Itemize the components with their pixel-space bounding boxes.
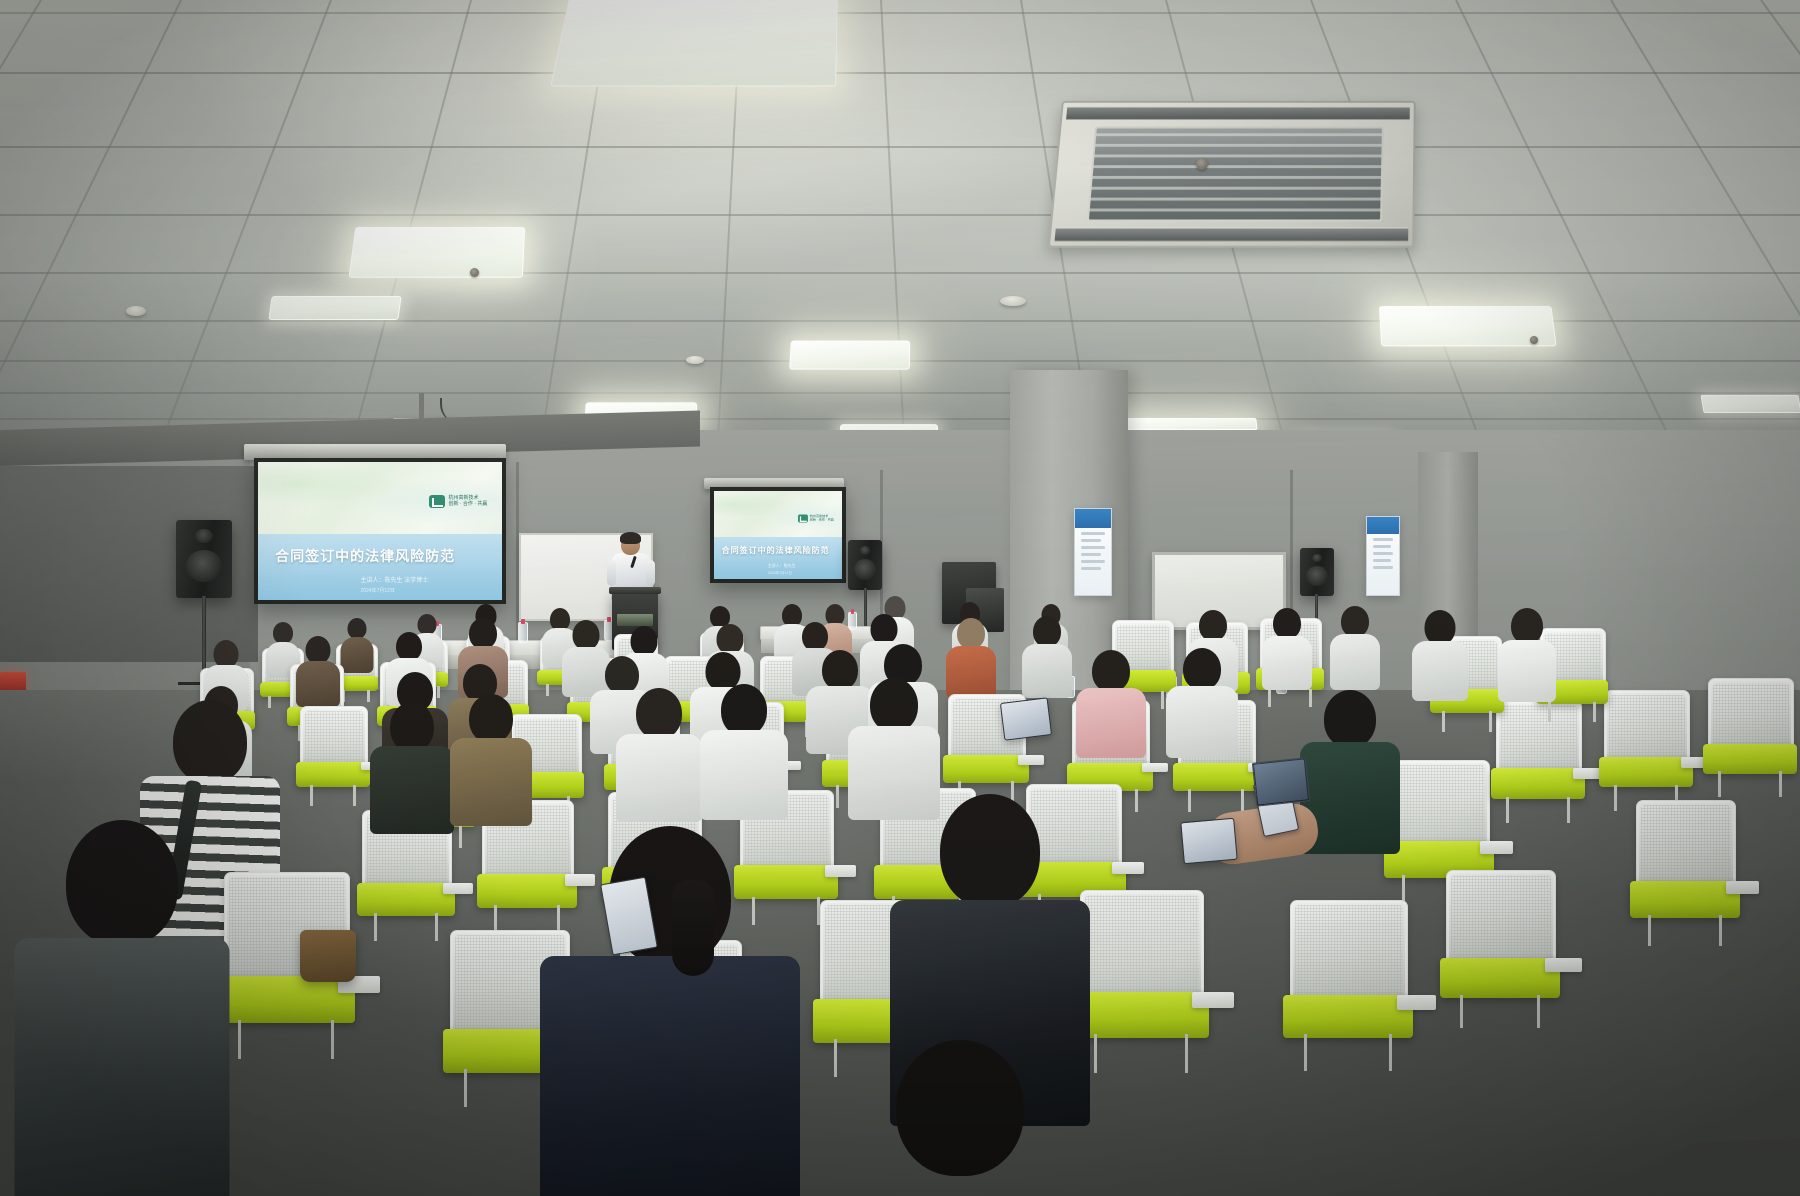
ceiling-ac-cassette	[1048, 101, 1416, 248]
chair[interactable]	[1080, 890, 1202, 1066]
smoke-detector	[1000, 296, 1026, 306]
audience-member	[946, 618, 996, 694]
ceiling-light-panel	[348, 227, 525, 278]
slide-title: 合同签订中的法律风险防范	[275, 546, 455, 566]
chair[interactable]	[1446, 870, 1554, 1022]
ponytail	[672, 880, 714, 976]
slide-date: 2024年7月12日	[360, 587, 394, 594]
secondary-projection-screen: 杭州高新技术 创新 · 合作 · 共赢 合同签订中的法律风险防范 主讲人：陈先生…	[710, 487, 846, 583]
slide-logo: 杭州高新技术 创新 · 合作 · 共赢	[429, 495, 487, 508]
chair[interactable]	[1290, 900, 1406, 1064]
slide-presenter: 主讲人：陈先生	[768, 563, 796, 569]
sprinkler-head	[1530, 336, 1538, 344]
audience-member	[616, 688, 702, 818]
audience-member	[1412, 610, 1468, 698]
handbag	[300, 930, 356, 982]
slide-logo-line2: 创新 · 合作 · 共赢	[810, 518, 834, 522]
ceiling-light-panel	[550, 0, 838, 86]
audience-member	[370, 702, 454, 832]
audience-member	[1166, 648, 1238, 754]
lectern-label	[617, 614, 653, 626]
sprinkler-head	[470, 268, 479, 277]
laptop[interactable]	[1252, 757, 1310, 806]
ceiling-light-panel	[1114, 418, 1257, 430]
chair[interactable]	[300, 706, 366, 802]
audience-member	[1076, 650, 1146, 754]
slide-presenter: 主讲人：陈先生 法学博士	[360, 575, 428, 584]
ceiling-light-panel	[268, 296, 401, 320]
water-bottle	[518, 622, 528, 643]
pa-speaker	[1300, 548, 1334, 596]
pa-speaker	[176, 520, 232, 598]
audience-member	[14, 820, 229, 1196]
exit-sign	[0, 672, 26, 692]
smoke-detector	[686, 356, 704, 364]
seminar-room-photo: 杭州高新技术 创新 · 合作 · 共赢 合同签订中的法律风险防范 主讲人：陈先生…	[0, 0, 1800, 1196]
logo-mark-icon	[429, 495, 445, 508]
main-projection-screen: 杭州高新技术 创新 · 合作 · 共赢 合同签订中的法律风险防范 主讲人：陈先生…	[254, 458, 506, 604]
audience-member	[296, 636, 340, 702]
chair[interactable]	[1708, 678, 1792, 792]
chair[interactable]	[1604, 690, 1688, 806]
slide-title: 合同签订中的法律风险防范	[722, 545, 830, 556]
ceiling-light-panel	[789, 341, 910, 370]
audience-member	[340, 618, 374, 672]
tablet-device[interactable]	[1000, 697, 1052, 741]
audience-member	[1262, 608, 1312, 686]
ceiling-light-panel	[1700, 395, 1800, 413]
slide-logo: 杭州高新技术 创新 · 合作 · 共赢	[798, 515, 834, 523]
chair[interactable]	[1636, 800, 1734, 940]
audience-member	[450, 694, 532, 822]
ceiling	[0, 0, 1800, 470]
audience-member	[1498, 608, 1556, 698]
sprinkler-head	[1196, 158, 1208, 170]
audience-member	[845, 1040, 1075, 1196]
pa-speaker	[848, 540, 882, 590]
slide-date: 2024年7月12日	[768, 571, 792, 576]
audience-member	[540, 826, 800, 1196]
smoke-detector	[126, 306, 146, 316]
audience-member	[700, 684, 788, 816]
logo-mark-icon	[798, 515, 808, 523]
slide-logo-line2: 创新 · 合作 · 共赢	[448, 501, 487, 507]
wall-poster-left	[1074, 508, 1112, 596]
audience-member	[1022, 616, 1072, 694]
tablet-device[interactable]	[1180, 818, 1237, 865]
wall-poster-right	[1366, 516, 1400, 596]
audience-member	[1330, 606, 1380, 686]
